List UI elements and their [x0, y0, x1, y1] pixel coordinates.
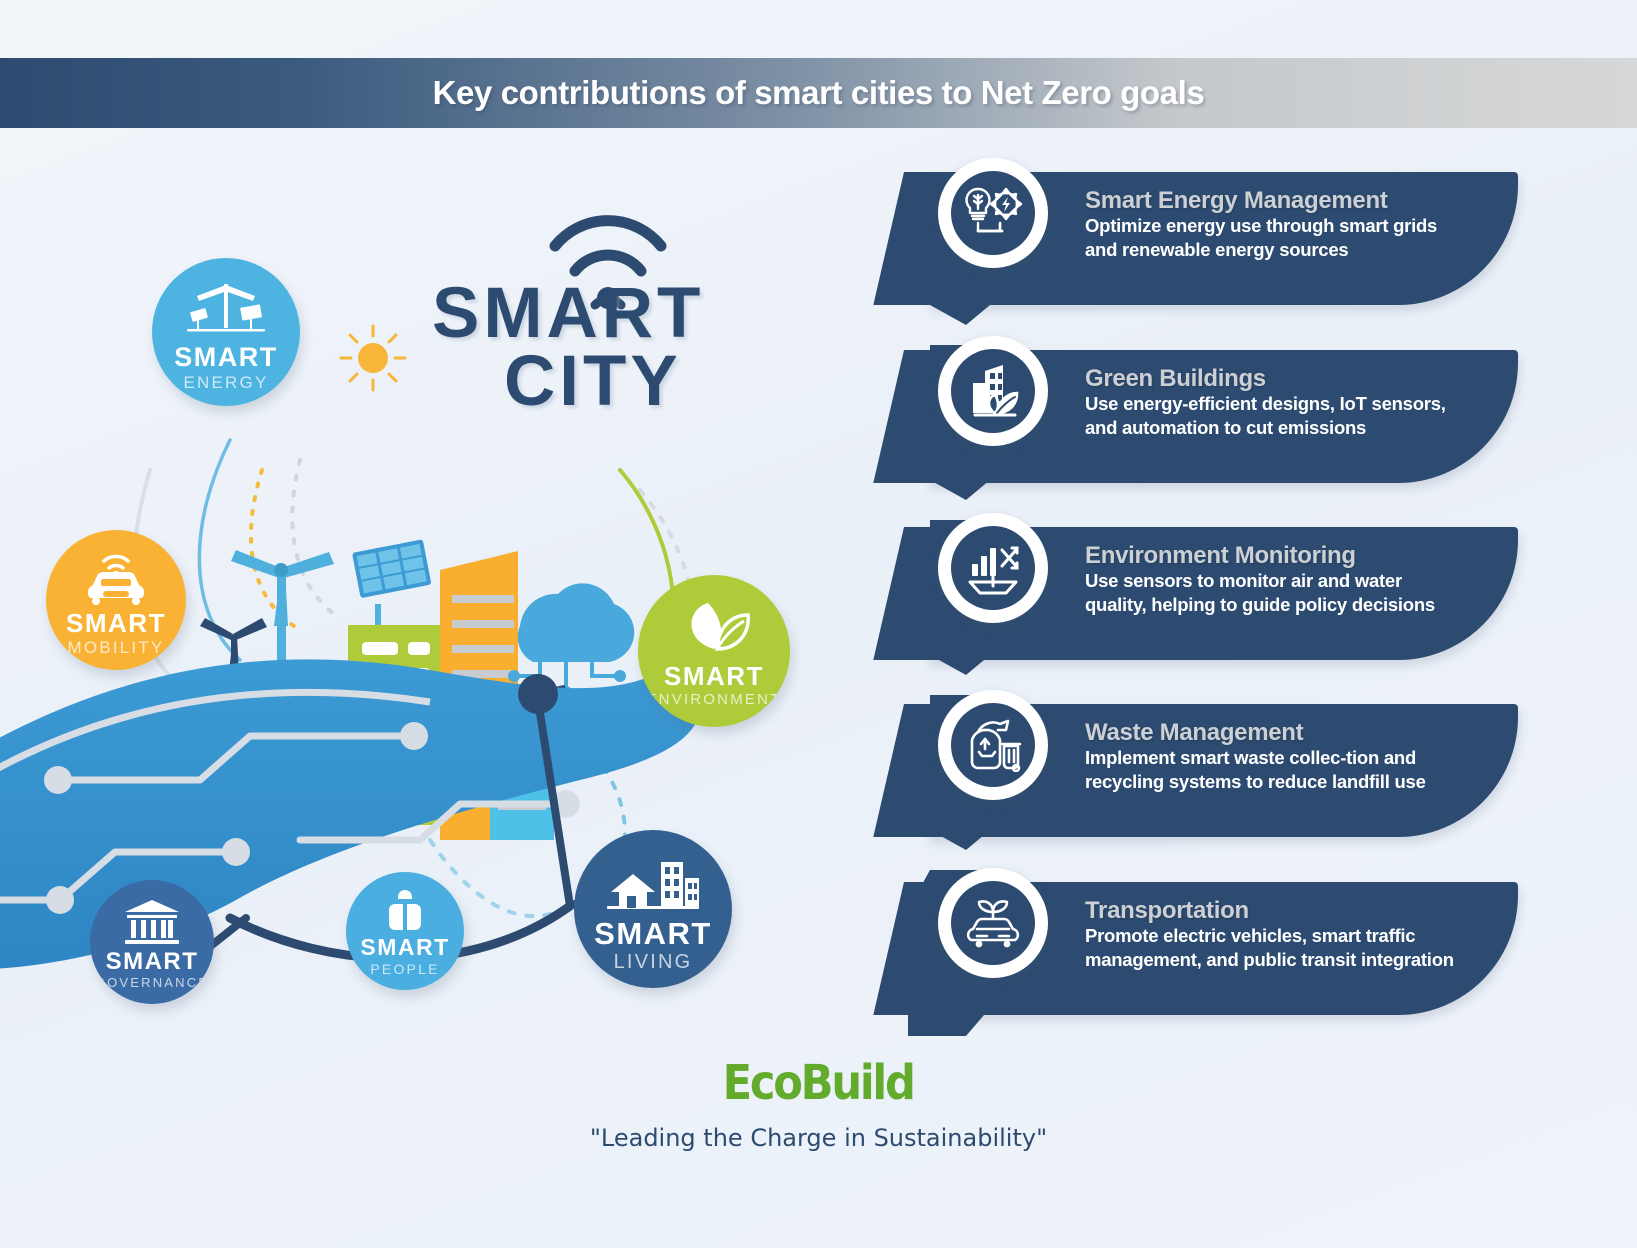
waste-recycle-bin-icon [951, 703, 1035, 787]
contributions-panel: Smart Energy Management Optimize energy … [900, 150, 1620, 1050]
page-title: Key contributions of smart cities to Net… [433, 74, 1205, 112]
item-description: Use energy-efficient designs, IoT sensor… [1085, 392, 1455, 439]
two-leaves-icon [638, 601, 790, 651]
energy-bulb-gear-icon [951, 171, 1035, 255]
brand-footer: EcoBuild "Leading the Charge in Sustaina… [0, 1055, 1637, 1152]
wordmark-line-2: CITY [504, 348, 704, 416]
electric-car-leaf-icon [951, 881, 1035, 965]
badge-smart-environment[interactable]: SMART ENVIRONMENT [638, 575, 790, 727]
ecobuild-logo: EcoBuild [723, 1055, 914, 1111]
badge-label-line1: SMART [66, 610, 166, 636]
badge-label-line1: SMART [174, 344, 278, 371]
item-icon-badge[interactable] [938, 868, 1048, 978]
smart-city-illustration: SMART CITY SMART ENER [0, 140, 900, 1060]
item-description: Use sensors to monitor air and water qua… [1085, 569, 1455, 616]
green-building-leaf-icon [951, 349, 1035, 433]
brand-tagline: "Leading the Charge in Sustainability" [0, 1124, 1637, 1152]
monitoring-chart-gear-icon [951, 526, 1035, 610]
infographic-canvas: Key contributions of smart cities to Net… [0, 0, 1637, 1248]
item-text: Waste Management Implement smart waste c… [1085, 720, 1455, 794]
smart-city-wordmark: SMART CITY [432, 280, 704, 416]
item-icon-badge[interactable] [938, 336, 1048, 446]
badge-smart-living[interactable]: SMART LIVING [574, 830, 732, 988]
item-title: Transportation [1085, 898, 1455, 923]
item-description: Promote electric vehicles, smart traffic… [1085, 924, 1455, 971]
house-building-icon [574, 858, 732, 910]
item-description: Implement smart waste collec-tion and re… [1085, 746, 1455, 793]
badge-label-line1: SMART [106, 950, 199, 974]
badge-smart-energy[interactable]: SMART ENERGY [152, 258, 300, 406]
badge-label-line2: GOVERNANCE [95, 976, 209, 989]
wordmark-line-1: SMART [432, 280, 704, 348]
item-title: Smart Energy Management [1085, 188, 1455, 213]
item-title: Green Buildings [1085, 366, 1455, 391]
item-text: Environment Monitoring Use sensors to mo… [1085, 543, 1455, 617]
item-text: Green Buildings Use energy-efficient des… [1085, 366, 1455, 440]
item-title: Environment Monitoring [1085, 543, 1455, 568]
item-description: Optimize energy use through smart grids … [1085, 214, 1455, 261]
header-banner: Key contributions of smart cities to Net… [0, 58, 1637, 128]
badge-label-line2: MOBILITY [68, 639, 165, 656]
badge-label-line2: ENERGY [184, 374, 269, 391]
item-title: Waste Management [1085, 720, 1455, 745]
badge-label-line1: SMART [664, 663, 764, 689]
wind-turbine-solar-icon [152, 280, 300, 334]
badge-label-line2: LIVING [614, 952, 693, 972]
connected-car-icon [46, 550, 186, 606]
badge-label-line1: SMART [360, 936, 449, 959]
item-icon-badge[interactable] [938, 513, 1048, 623]
badge-smart-governance[interactable]: SMART GOVERNANCE [90, 880, 214, 1004]
item-icon-badge[interactable] [938, 158, 1048, 268]
person-icon [346, 888, 464, 932]
badge-label-line2: ENVIRONMENT [646, 692, 781, 707]
badge-label-line2: PEOPLE [370, 962, 439, 976]
sun-icon [341, 326, 405, 390]
item-icon-badge[interactable] [938, 690, 1048, 800]
bank-columns-icon [90, 898, 214, 944]
badge-smart-people[interactable]: SMART PEOPLE [346, 872, 464, 990]
badge-smart-mobility[interactable]: SMART MOBILITY [46, 530, 186, 670]
item-text: Smart Energy Management Optimize energy … [1085, 188, 1455, 262]
badge-label-line1: SMART [594, 918, 712, 949]
item-text: Transportation Promote electric vehicles… [1085, 898, 1455, 972]
